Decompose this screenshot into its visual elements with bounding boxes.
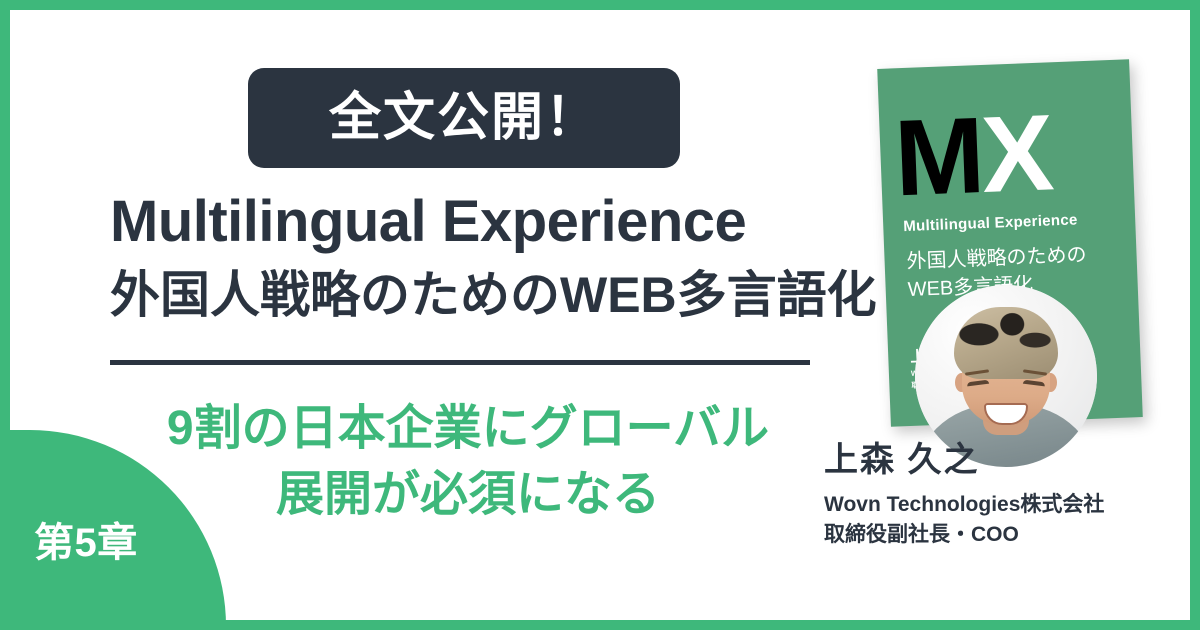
speaker-portrait-avatar <box>915 285 1097 467</box>
book-logo-letter-m: M <box>892 94 984 218</box>
banner-root: 第5章 全文公開！ Multilingual Experience 外国人戦略の… <box>0 0 1200 630</box>
speaker-role: 取締役副社長・COO <box>824 524 1019 545</box>
book-logo-letter-x: X <box>979 91 1053 215</box>
full-text-release-badge-label: 全文公開！ <box>329 92 599 144</box>
portrait-hair <box>954 307 1058 379</box>
full-text-release-badge: 全文公開！ <box>248 68 680 168</box>
speaker-name: 上森 久之 <box>824 443 979 477</box>
speaker-company: Wovn Technologies株式会社 <box>824 494 1104 515</box>
frame-border-top <box>0 0 1200 10</box>
headline-english: Multilingual Experience <box>110 192 870 253</box>
lead-copy: 9割の日本企業にグローバル 展開が必須になる <box>110 396 826 528</box>
divider-rule <box>110 360 810 365</box>
frame-border-bottom <box>0 620 1200 630</box>
lead-copy-line-2: 展開が必須になる <box>110 462 826 528</box>
book-cover-logo: MX <box>893 95 1129 212</box>
headline-japanese: 外国人戦略のためのWEB多言語化 <box>110 265 870 325</box>
chapter-label: 第5章 <box>34 523 138 563</box>
lead-copy-line-1: 9割の日本企業にグローバル <box>110 396 826 462</box>
frame-border-right <box>1190 0 1200 630</box>
frame-border-left <box>0 0 10 630</box>
